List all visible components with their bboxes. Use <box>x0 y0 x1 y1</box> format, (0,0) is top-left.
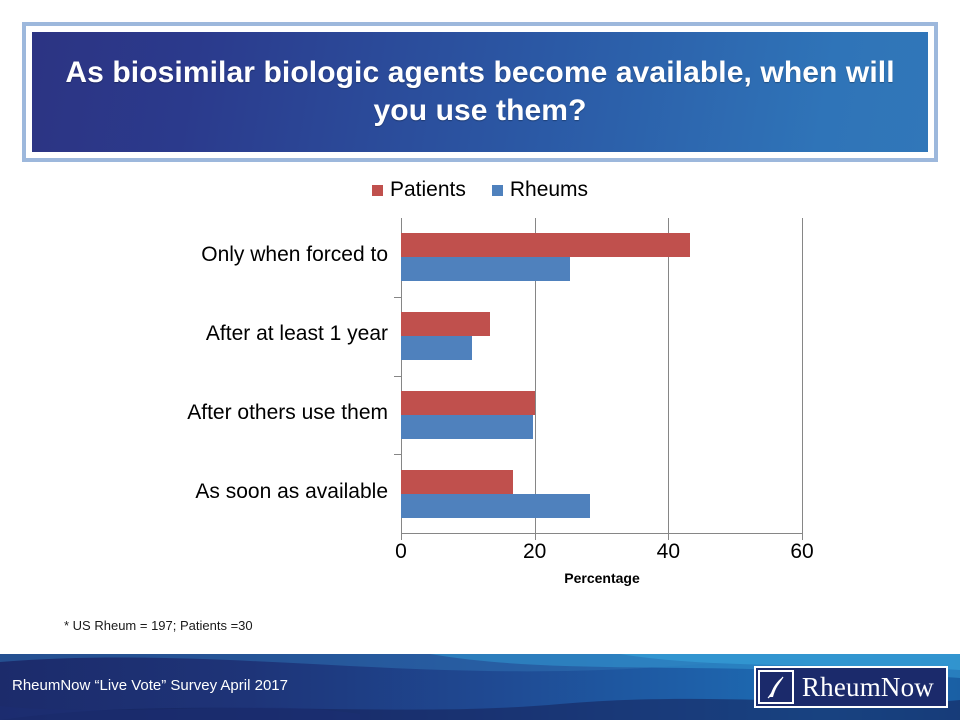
gridline <box>802 218 803 533</box>
x-tick-label: 0 <box>371 540 431 564</box>
bar-rheums[interactable] <box>401 257 570 281</box>
title-banner: As biosimilar biologic agents become ava… <box>22 22 938 162</box>
legend-item-patients: Patients <box>372 178 466 202</box>
x-tick <box>401 533 402 540</box>
rheumnow-logo[interactable]: RheumNow <box>754 666 948 708</box>
footer-caption: RheumNow “Live Vote” Survey April 2017 <box>12 677 288 694</box>
rheumnow-logo-text: RheumNow <box>798 670 944 704</box>
rheumnow-mark-icon <box>758 670 794 704</box>
bar-patients[interactable] <box>401 470 513 494</box>
bar-group <box>401 312 802 360</box>
bar-group <box>401 470 802 518</box>
bar-group <box>401 233 802 281</box>
legend-item-rheums: Rheums <box>492 178 588 202</box>
x-tick <box>535 533 536 540</box>
bar-patients[interactable] <box>401 312 490 336</box>
bar-group <box>401 391 802 439</box>
slide-canvas: As biosimilar biologic agents become ava… <box>0 0 960 720</box>
bar-patients[interactable] <box>401 391 535 415</box>
category-label: Only when forced to <box>58 243 388 267</box>
chart-legend: Patients Rheums <box>0 178 960 202</box>
bar-rheums[interactable] <box>401 494 590 518</box>
x-tick <box>668 533 669 540</box>
footnote: * US Rheum = 197; Patients =30 <box>64 618 253 633</box>
bar-rheums[interactable] <box>401 336 472 360</box>
bar-chart: Patients Rheums 0204060 Percentage <box>0 168 960 598</box>
x-axis-line <box>401 533 803 534</box>
category-label: As soon as available <box>58 480 388 504</box>
legend-label-patients: Patients <box>390 178 466 202</box>
x-tick-label: 60 <box>772 540 832 564</box>
legend-label-rheums: Rheums <box>510 178 588 202</box>
quill-icon <box>766 674 786 700</box>
footer-band: RheumNow “Live Vote” Survey April 2017 R… <box>0 654 960 720</box>
page-title: As biosimilar biologic agents become ava… <box>32 54 928 131</box>
x-tick-label: 40 <box>638 540 698 564</box>
legend-swatch-rheums <box>492 185 503 196</box>
title-banner-fill: As biosimilar biologic agents become ava… <box>32 32 928 152</box>
bar-patients[interactable] <box>401 233 690 257</box>
x-tick-label: 20 <box>505 540 565 564</box>
x-tick <box>802 533 803 540</box>
bar-rheums[interactable] <box>401 415 533 439</box>
x-axis-title: Percentage <box>401 570 803 586</box>
category-label: After at least 1 year <box>58 322 388 346</box>
legend-swatch-patients <box>372 185 383 196</box>
plot-area <box>401 218 802 533</box>
category-label: After others use them <box>58 401 388 425</box>
